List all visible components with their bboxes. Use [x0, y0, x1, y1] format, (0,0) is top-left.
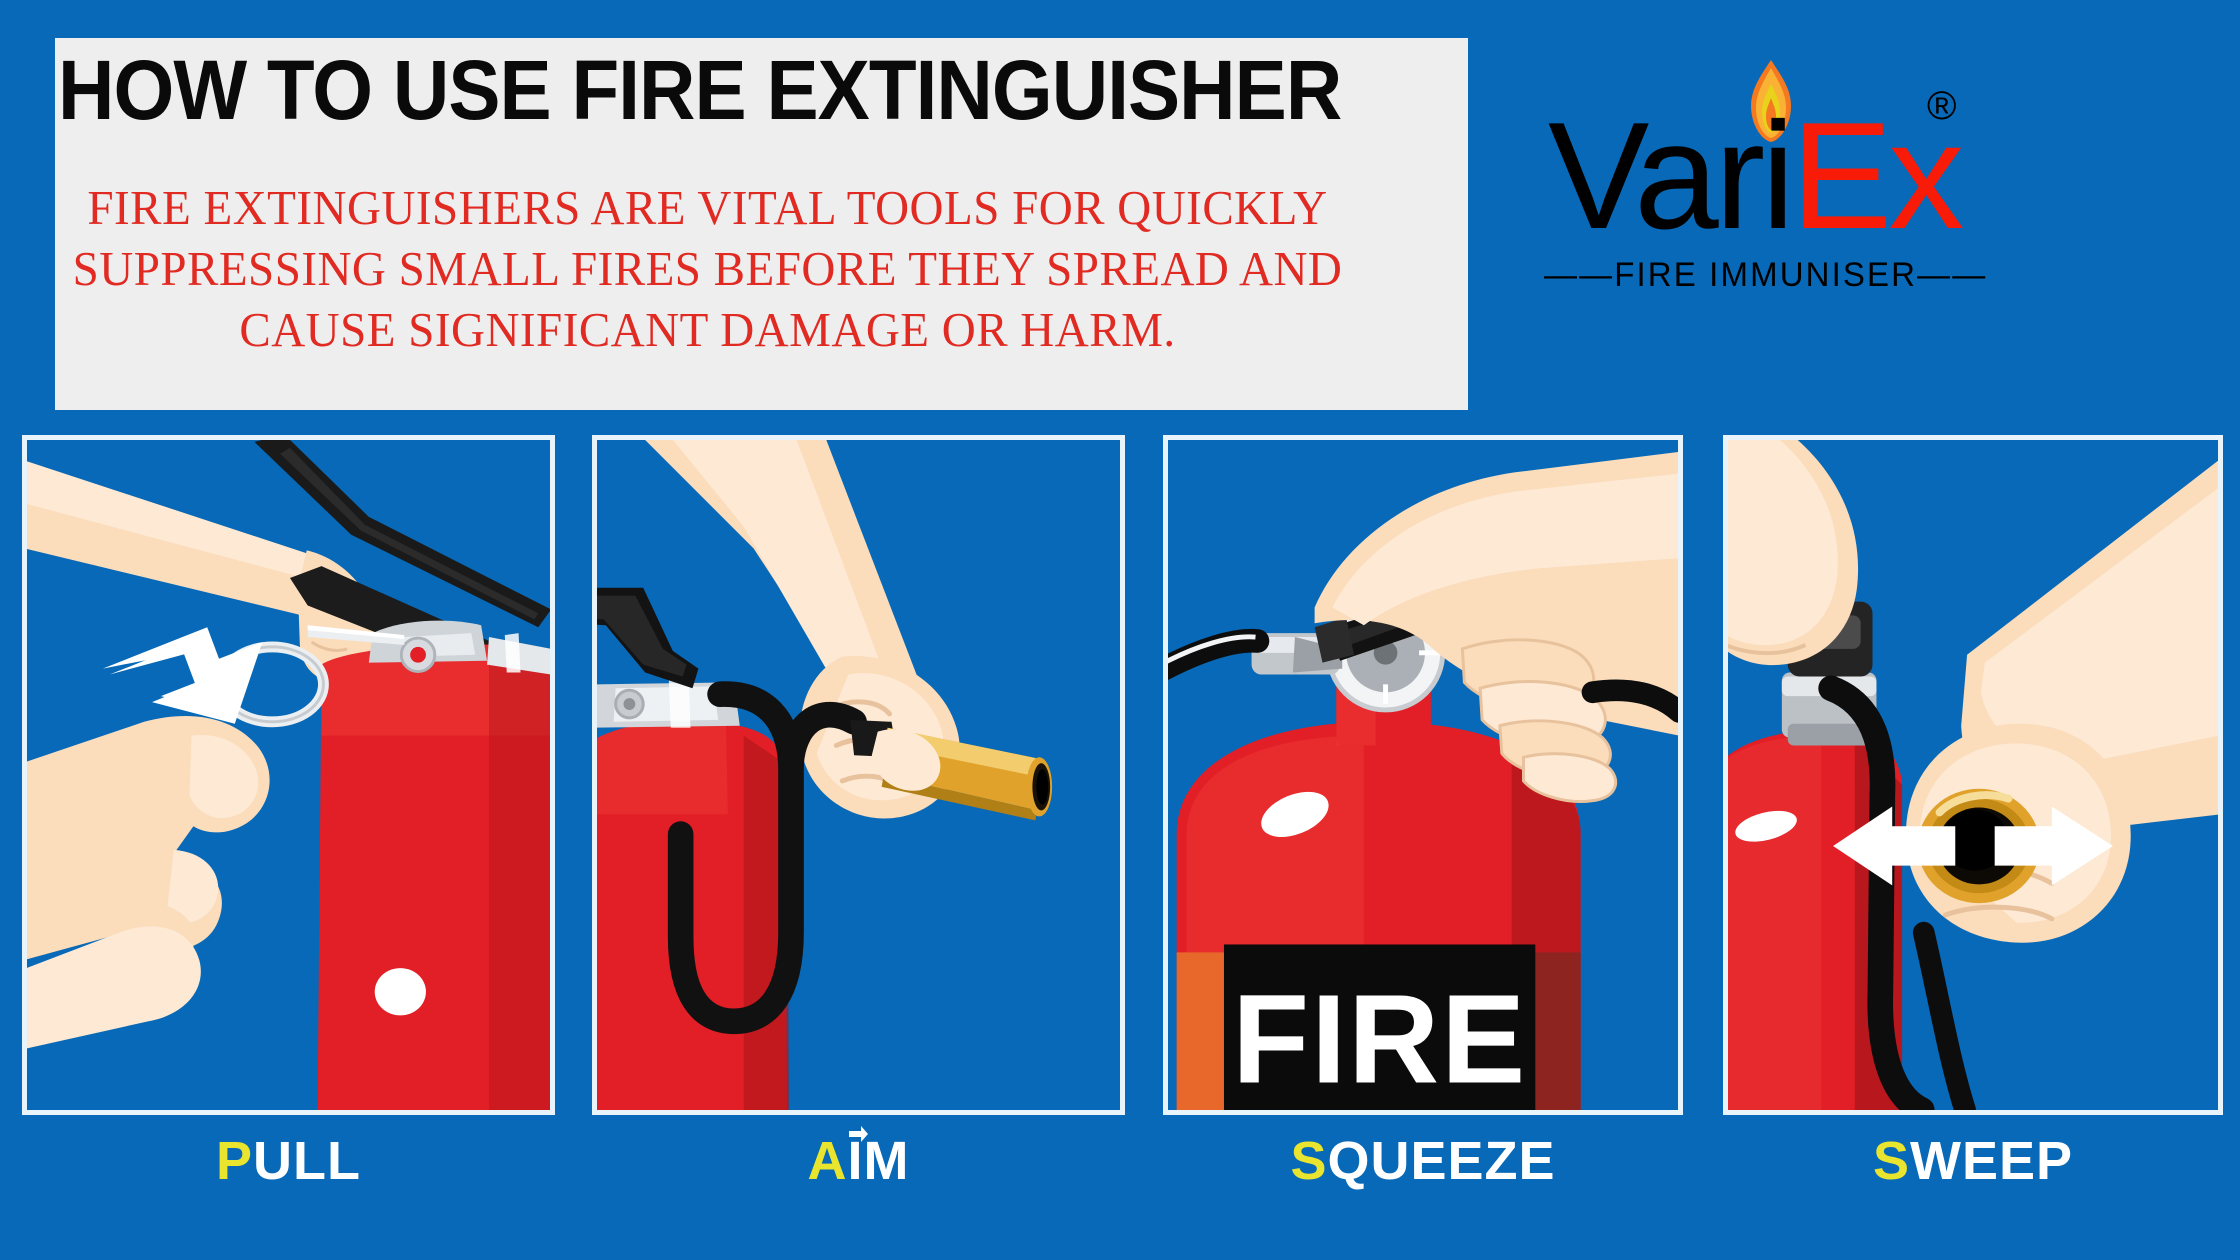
step-label-pull-rest: ULL — [253, 1131, 361, 1191]
subtitle-text: FIRE EXTINGUISHERS ARE VITAL TOOLS FOR Q… — [67, 178, 1349, 360]
step-label-squeeze: SQUEEZE — [1163, 1130, 1683, 1200]
step-label-pull: PULL — [22, 1130, 555, 1200]
svg-text:FIRE: FIRE — [1232, 968, 1527, 1109]
logo-text-vari: Vari — [1548, 91, 1791, 261]
subtitle-line-2: SUPPRESSING SMALL FIRES BEFORE THEY SPRE… — [67, 239, 1349, 300]
step-panel-squeeze[interactable]: FIRE — [1163, 435, 1683, 1115]
step-panel-sweep[interactable] — [1723, 435, 2223, 1115]
illustration-aim — [597, 440, 1120, 1110]
subtitle-line-3: CAUSE SIGNIFICANT DAMAGE OR HARM. — [67, 300, 1349, 361]
step-panel-pull[interactable] — [22, 435, 555, 1115]
step-label-sweep: SWEEP — [1723, 1130, 2223, 1200]
step-panel-aim[interactable] — [592, 435, 1125, 1115]
step-label-squeeze-first-letter: S — [1290, 1131, 1327, 1191]
step-label-sweep-rest: WEEP — [1910, 1131, 2073, 1191]
logo-wordmark: VariEx — [1548, 100, 1960, 252]
illustration-sweep — [1728, 440, 2218, 1110]
step-label-pull-first-letter: P — [216, 1131, 253, 1191]
logo-tagline: ——FIRE IMMUNISER—— — [1544, 256, 1971, 295]
subtitle-line-1: FIRE EXTINGUISHERS ARE VITAL TOOLS FOR Q… — [67, 178, 1349, 239]
variex-logo: VariEx ® ——FIRE IMMUNISER—— — [1530, 60, 2150, 360]
step-label-squeeze-rest: QUEEZE — [1327, 1131, 1555, 1191]
registered-trademark-icon: ® — [1927, 84, 1956, 129]
cursor-arrow-icon — [847, 1123, 869, 1145]
illustration-squeeze: FIRE — [1168, 440, 1678, 1110]
step-label-aim-first-letter: A — [808, 1131, 848, 1191]
step-label-sweep-first-letter: S — [1873, 1131, 1910, 1191]
page-title: HOW TO USE FIRE EXTINGUISHER — [58, 48, 1267, 132]
illustration-pull — [27, 440, 550, 1110]
